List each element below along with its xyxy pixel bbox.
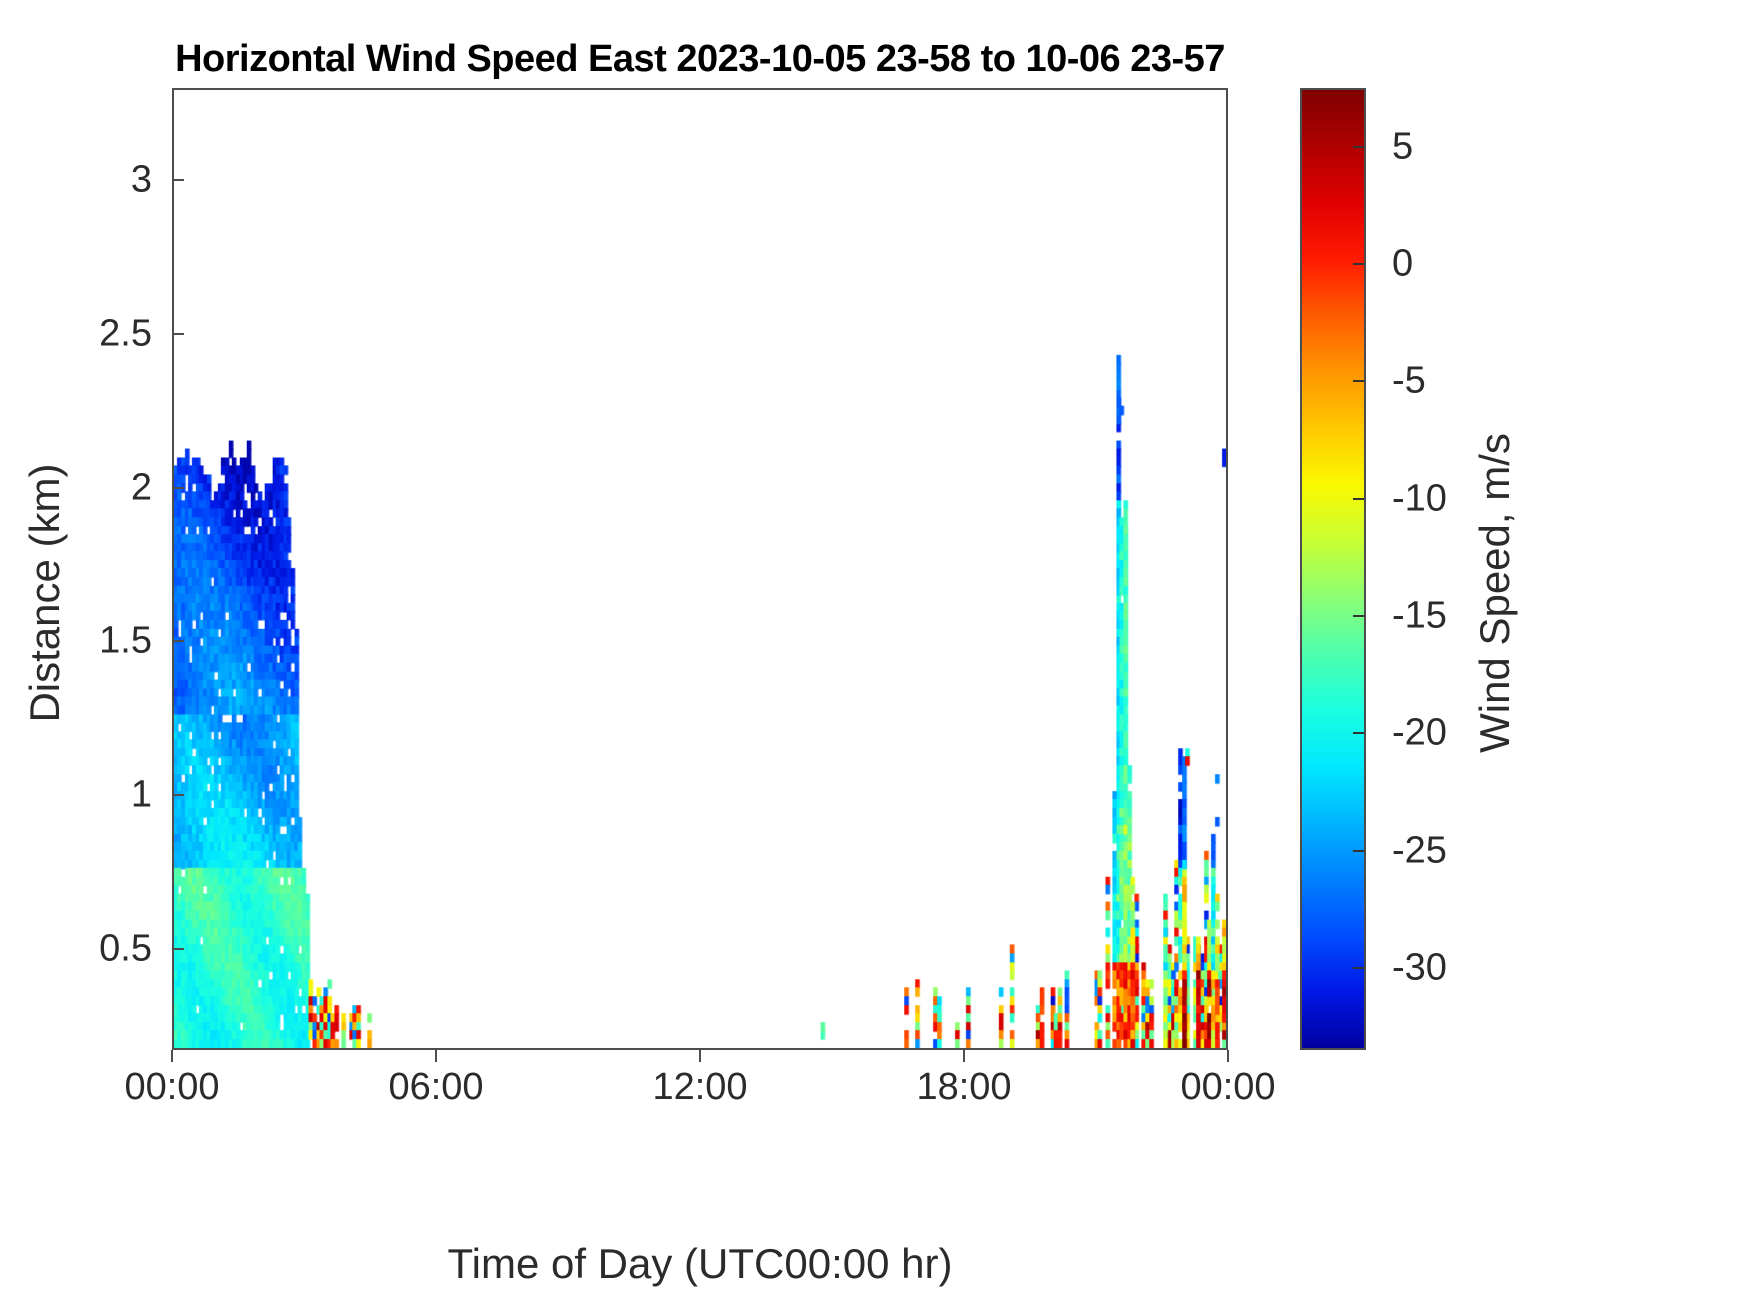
y-tick-label: 3	[0, 159, 152, 202]
y-tick-mark	[172, 179, 184, 181]
y-tick-mark	[172, 794, 184, 796]
x-tick-mark	[171, 1050, 173, 1062]
colorbar-tick-label: -20	[1392, 712, 1447, 755]
y-tick-mark	[172, 640, 184, 642]
page-title: Horizontal Wind Speed East 2023-10-05 23…	[0, 38, 1400, 81]
colorbar-tick-label: -15	[1392, 594, 1447, 637]
colorbar-tick-mark	[1353, 498, 1364, 500]
y-tick-mark	[172, 333, 184, 335]
x-tick-mark	[1227, 1050, 1229, 1062]
y-tick-label: 0.5	[0, 927, 152, 970]
wind-speed-heatmap-figure: Horizontal Wind Speed East 2023-10-05 23…	[0, 0, 1750, 1313]
colorbar-gradient	[1302, 90, 1364, 1048]
colorbar-tick-label: 0	[1392, 242, 1413, 285]
colorbar-tick-label: -5	[1392, 360, 1426, 403]
heatmap-data-area	[174, 90, 1226, 1048]
colorbar-tick-mark	[1353, 615, 1364, 617]
colorbar	[1300, 88, 1366, 1050]
x-tick-label: 06:00	[316, 1066, 556, 1109]
y-tick-mark	[172, 487, 184, 489]
colorbar-label: Wind Speed, m/s	[1471, 343, 1519, 843]
x-tick-label: 18:00	[844, 1066, 1084, 1109]
colorbar-tick-label: -30	[1392, 946, 1447, 989]
x-tick-mark	[435, 1050, 437, 1062]
colorbar-tick-mark	[1353, 850, 1364, 852]
colorbar-tick-label: 5	[1392, 125, 1413, 168]
x-tick-label: 12:00	[580, 1066, 820, 1109]
colorbar-tick-mark	[1353, 146, 1364, 148]
y-tick-mark	[172, 948, 184, 950]
colorbar-tick-mark	[1353, 263, 1364, 265]
colorbar-tick-mark	[1353, 732, 1364, 734]
x-tick-mark	[699, 1050, 701, 1062]
plot-axes-frame	[172, 88, 1228, 1050]
x-tick-label: 00:00	[1108, 1066, 1348, 1109]
x-axis-label: Time of Day (UTC00:00 hr)	[172, 1240, 1228, 1288]
x-tick-mark	[963, 1050, 965, 1062]
colorbar-tick-label: -10	[1392, 477, 1447, 520]
colorbar-tick-mark	[1353, 380, 1364, 382]
x-tick-label: 00:00	[52, 1066, 292, 1109]
colorbar-tick-label: -25	[1392, 829, 1447, 872]
y-axis-label: Distance (km)	[21, 343, 69, 843]
colorbar-tick-mark	[1353, 967, 1364, 969]
